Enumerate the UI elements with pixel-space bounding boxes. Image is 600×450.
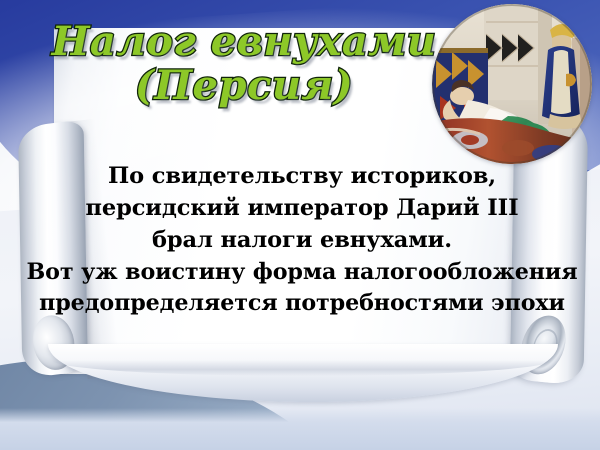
body-line-2: персидский император Дарий III [14, 192, 590, 224]
body-line-1: По свидетельству историков, [14, 160, 590, 192]
scroll-bottom-edge [48, 344, 558, 402]
body-line-5: предопределяется потребностями эпохи [14, 288, 590, 320]
orientalist-painting-image [432, 4, 592, 164]
slide-canvas: Налог евнухами (Персия) По свидетельству… [0, 0, 600, 450]
body-line-4: Вот уж воистину форма налогообложения [14, 257, 590, 289]
slide-body-text: По свидетельству историков, персидский и… [14, 160, 590, 320]
body-line-3: брал налоги евнухами. [14, 224, 590, 256]
